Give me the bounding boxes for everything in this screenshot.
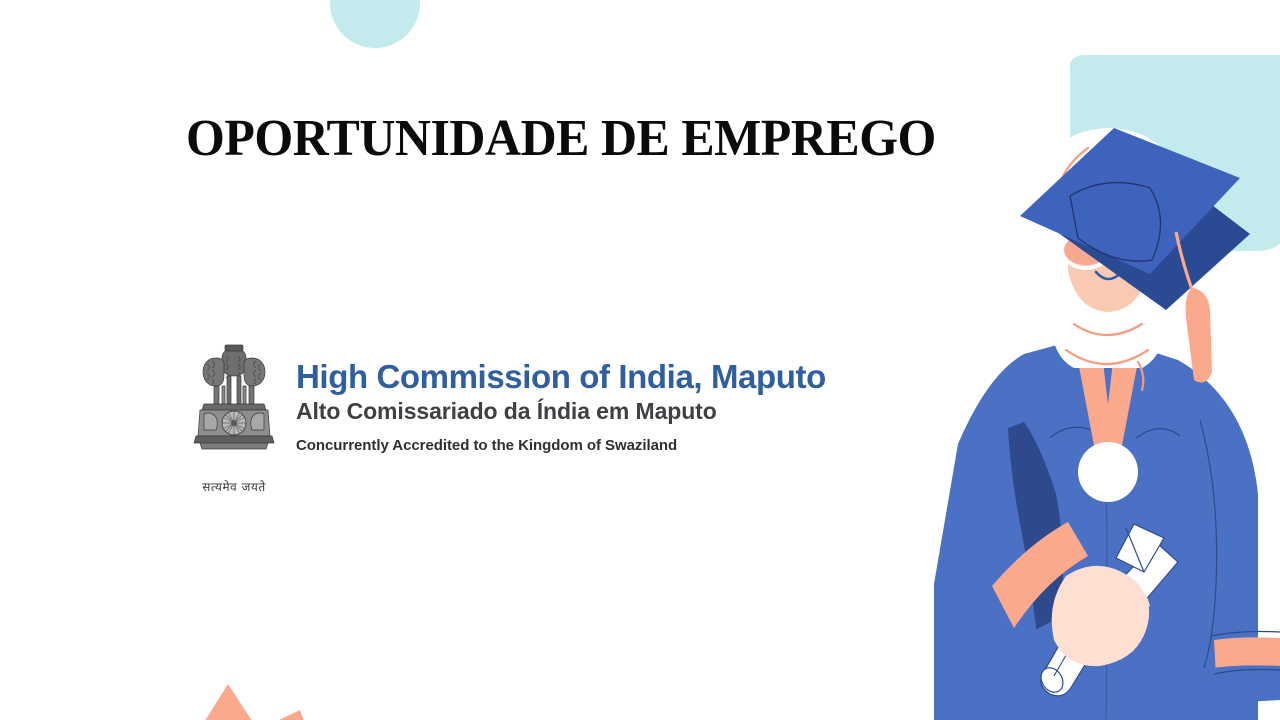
medal-disc — [1078, 442, 1138, 502]
teal-circle-decoration — [330, 0, 420, 48]
logo-text-block: High Commission of India, Maputo Alto Co… — [296, 336, 826, 456]
page-title: OPORTUNIDADE DE EMPREGO — [186, 112, 936, 167]
emblem-motto: सत्यमेव जयते — [186, 478, 282, 495]
logo-line-english: High Commission of India, Maputo — [296, 360, 826, 394]
logo-line-portuguese: Alto Comissariado da Índia em Maputo — [296, 397, 826, 427]
emblem-wrapper: सत्यमेव जयते — [186, 336, 282, 495]
slide-canvas: OPORTUNIDADE DE EMPREGO — [0, 0, 1280, 720]
logo-line-accreditation: Concurrently Accredited to the Kingdom o… — [296, 436, 826, 456]
indian-state-emblem-icon — [186, 336, 282, 476]
high-commission-logo: सत्यमेव जयते High Commission of India, M… — [186, 336, 826, 495]
graduate-illustration — [928, 24, 1280, 720]
salmon-star-decoration — [140, 672, 310, 720]
